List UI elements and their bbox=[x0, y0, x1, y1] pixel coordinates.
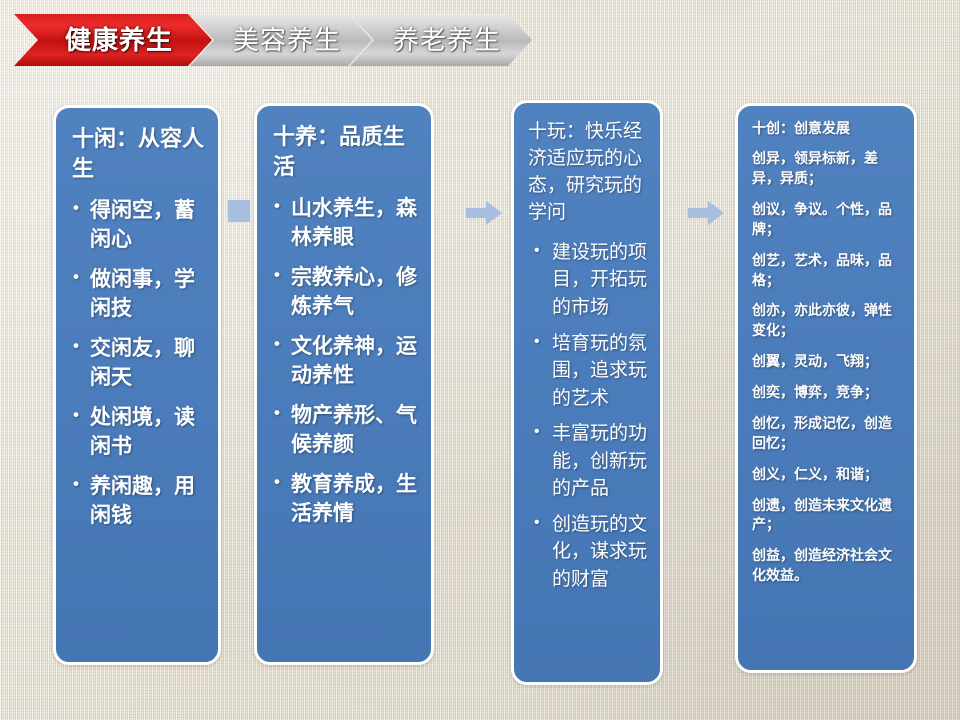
list-item: 交闲友，聊闲天 bbox=[72, 335, 204, 393]
card-paragraph: 创忆，形成记忆，创造回忆； bbox=[752, 414, 902, 454]
card-bullet-list: 建设玩的项目，开拓玩的市场 培育玩的氛围，追求玩的艺术 丰富玩的功能，创新玩的产… bbox=[528, 239, 648, 594]
list-item: 山水养生，森林养眼 bbox=[273, 195, 417, 253]
tab-elderly-wellness[interactable]: 养老养生 bbox=[350, 14, 532, 66]
arrow-right-icon bbox=[466, 200, 502, 226]
card-paragraph: 创艺，艺术，品味，品格； bbox=[752, 251, 902, 291]
card-bullet-list: 得闲空，蓄闲心 做闲事，学闲技 交闲友，聊闲天 处闲境，读闲书 养闲趣，用闲钱 bbox=[72, 197, 204, 531]
card-paragraph: 创益，创造经济社会文化效益。 bbox=[752, 546, 902, 586]
tab-beauty-wellness[interactable]: 美容养生 bbox=[190, 14, 372, 66]
list-item: 得闲空，蓄闲心 bbox=[72, 197, 204, 255]
list-item: 教育养成，生活养情 bbox=[273, 471, 417, 529]
card-bullet-list: 山水养生，森林养眼 宗教养心，修炼养气 文化养神，运动养性 物产养形、气候养颜 … bbox=[273, 195, 417, 529]
list-item: 处闲境，读闲书 bbox=[72, 404, 204, 462]
card-paragraph: 创议，争议。个性，品牌； bbox=[752, 200, 902, 240]
card-ten-leisure[interactable]: 十闲：从容人生 得闲空，蓄闲心 做闲事，学闲技 交闲友，聊闲天 处闲境，读闲书 … bbox=[53, 105, 221, 665]
list-item: 培育玩的氛围，追求玩的艺术 bbox=[532, 330, 648, 413]
list-item: 养闲趣，用闲钱 bbox=[72, 473, 204, 531]
card-paragraph: 创奕，博弈，竞争； bbox=[752, 383, 902, 403]
list-item: 建设玩的项目，开拓玩的市场 bbox=[532, 239, 648, 322]
list-item: 做闲事，学闲技 bbox=[72, 266, 204, 324]
card-ten-play[interactable]: 十玩：快乐经济适应玩的心态，研究玩的学问 建设玩的项目，开拓玩的市场 培育玩的氛… bbox=[511, 100, 663, 685]
list-item: 物产养形、气候养颜 bbox=[273, 402, 417, 460]
tab-label: 养老养生 bbox=[367, 27, 515, 53]
card-title: 十创：创意发展 bbox=[752, 119, 902, 137]
card-paragraph: 创异，领异标新，差异，异质； bbox=[752, 149, 902, 189]
card-ten-nurture[interactable]: 十养：品质生活 山水养生，森林养眼 宗教养心，修炼养气 文化养神，运动养性 物产… bbox=[254, 103, 434, 665]
card-paragraph: 创亦，亦此亦彼，弹性变化； bbox=[752, 301, 902, 341]
tab-label: 美容养生 bbox=[207, 27, 355, 53]
list-item: 宗教养心，修炼养气 bbox=[273, 264, 417, 322]
tab-bar: 健康养生 美容养生 养老养生 bbox=[14, 14, 532, 66]
card-title: 十玩：快乐经济适应玩的心态，研究玩的学问 bbox=[528, 119, 648, 227]
card-ten-create[interactable]: 十创：创意发展 创异，领异标新，差异，异质； 创议，争议。个性，品牌； 创艺，艺… bbox=[735, 103, 917, 673]
list-item: 文化养神，运动养性 bbox=[273, 333, 417, 391]
card-paragraph: 创遗，创造未来文化遗产； bbox=[752, 496, 902, 536]
card-paragraph: 创翼，灵动，飞翔； bbox=[752, 352, 902, 372]
card-paragraph: 创义，仁义，和谐； bbox=[752, 465, 902, 485]
square-connector-icon bbox=[228, 200, 250, 222]
arrow-right-icon bbox=[688, 200, 724, 226]
card-title: 十养：品质生活 bbox=[273, 122, 417, 181]
tab-label: 健康养生 bbox=[39, 27, 187, 53]
tab-health-wellness[interactable]: 健康养生 bbox=[14, 14, 212, 66]
card-title: 十闲：从容人生 bbox=[72, 124, 204, 183]
list-item: 丰富玩的功能，创新玩的产品 bbox=[532, 420, 648, 503]
list-item: 创造玩的文化，谋求玩的财富 bbox=[532, 511, 648, 594]
